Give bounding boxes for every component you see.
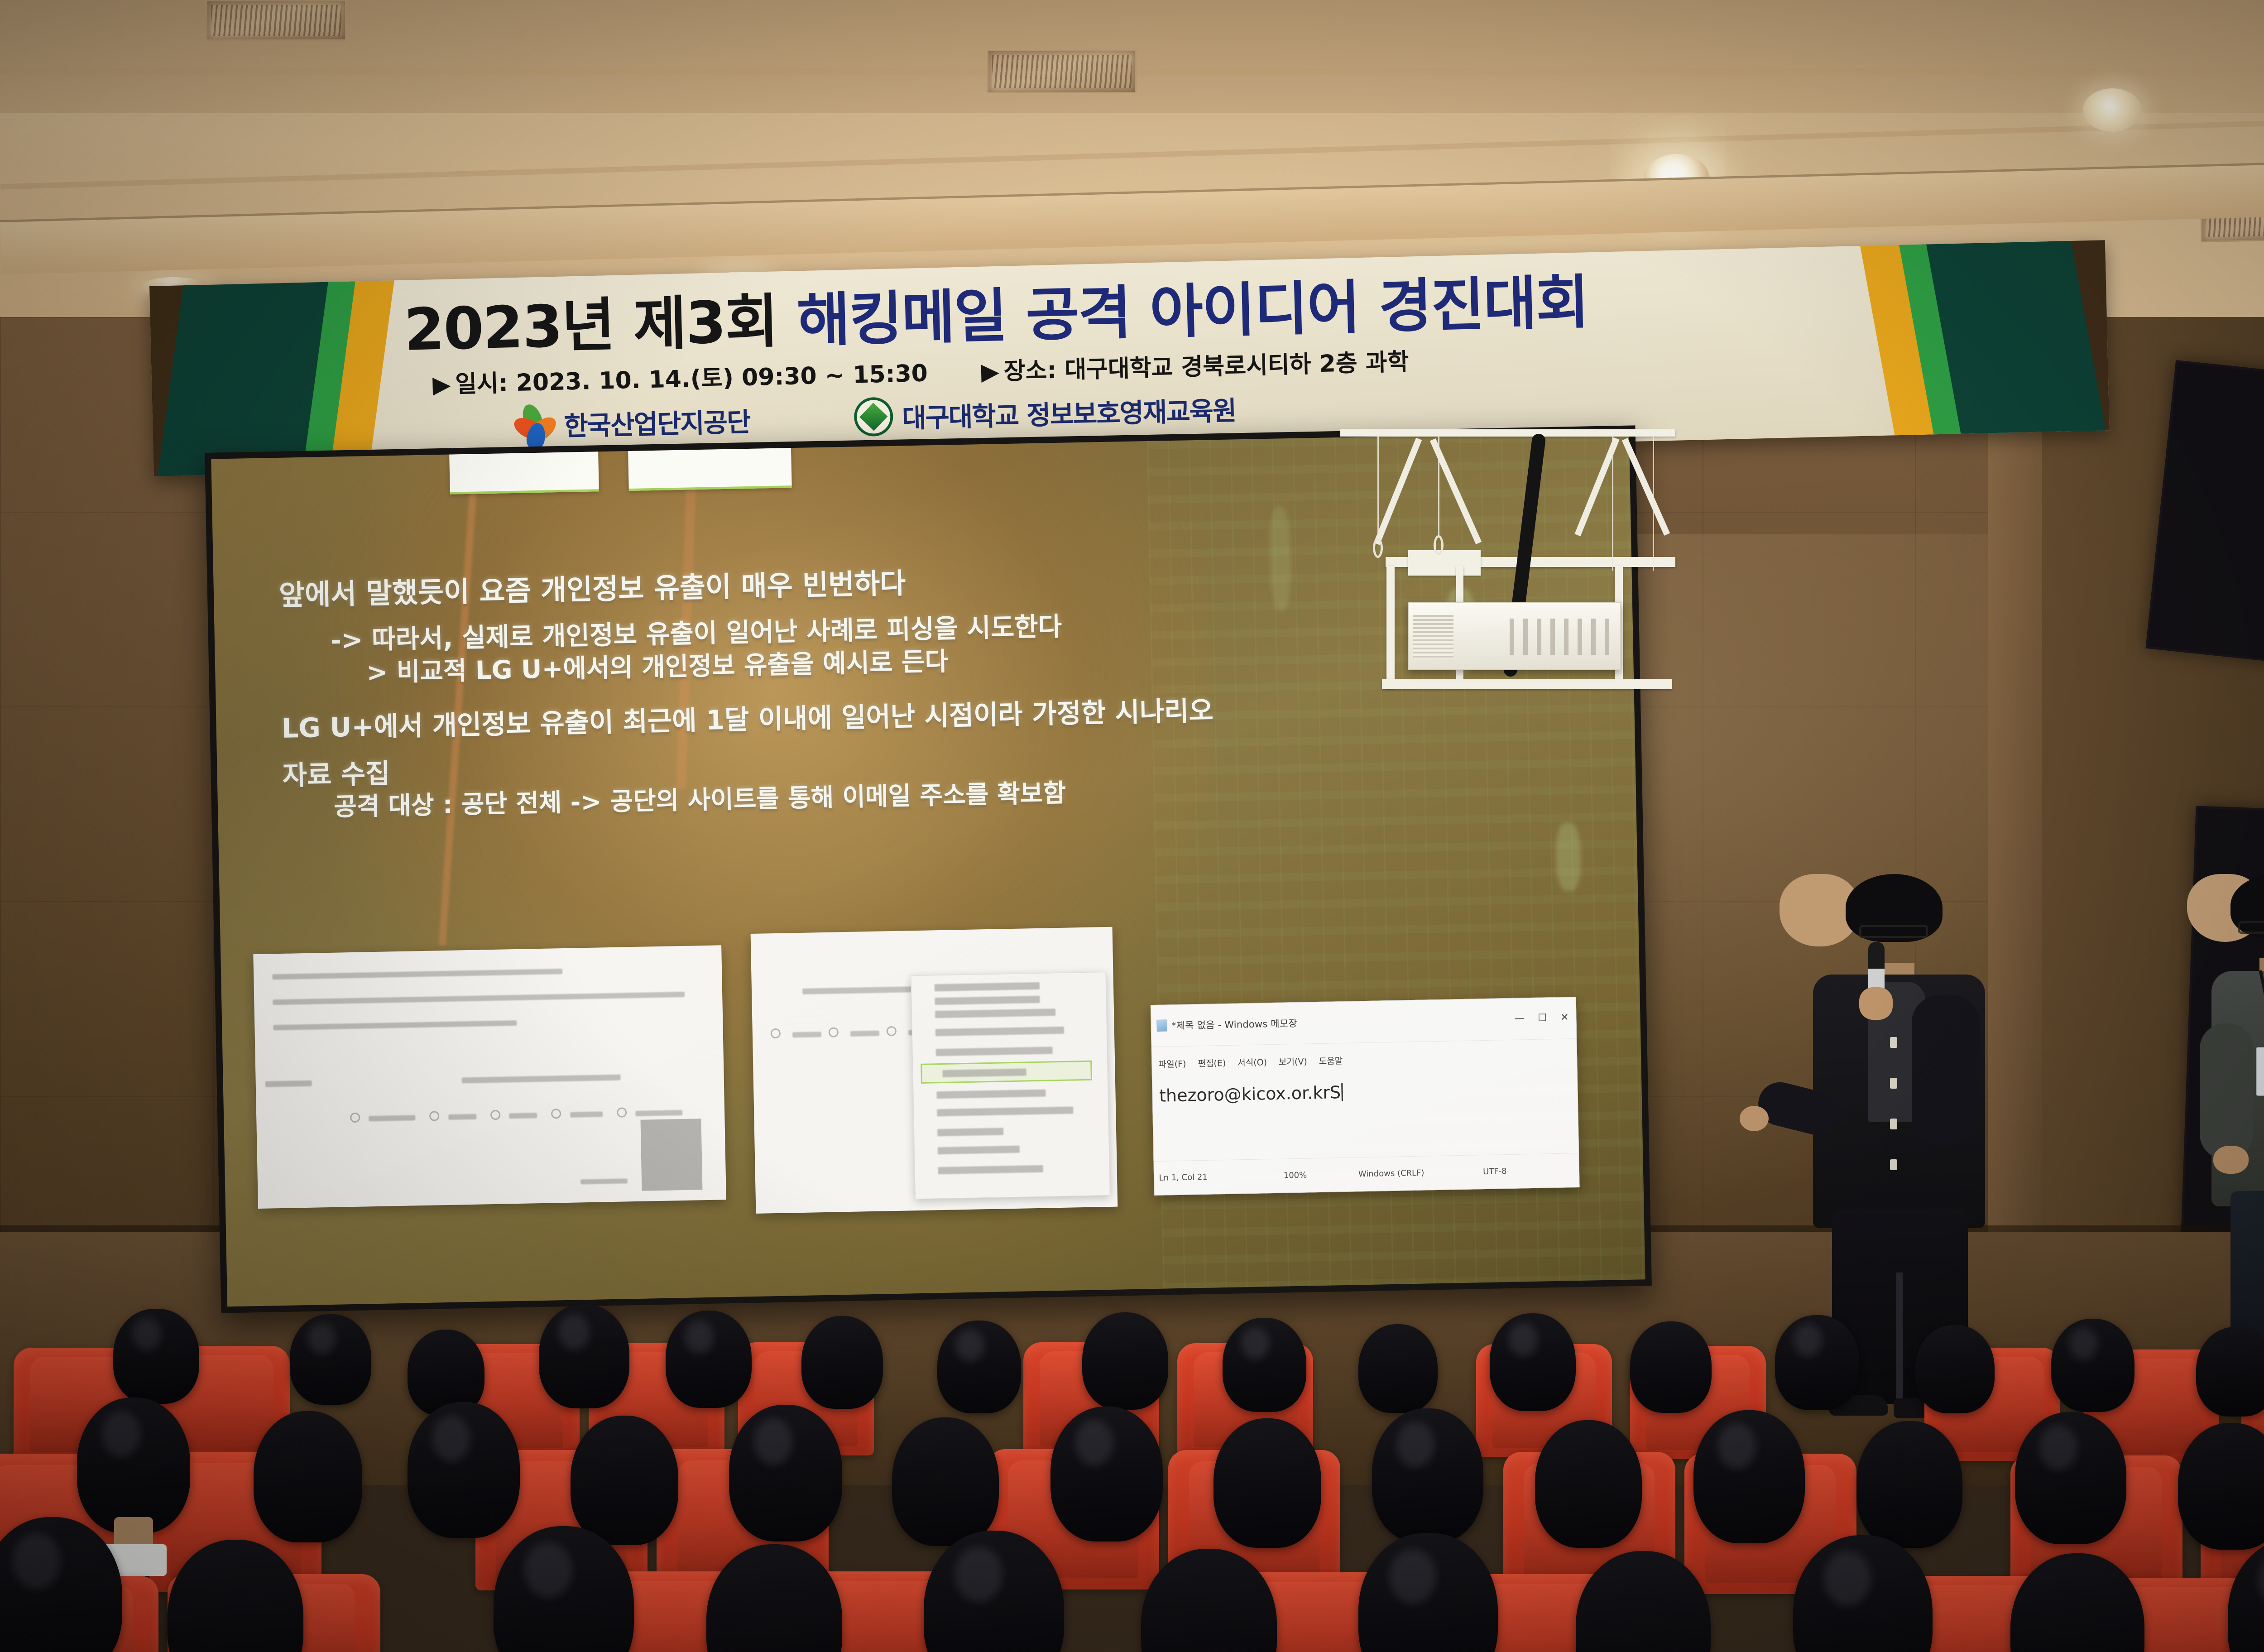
context-menu-item-4[interactable] <box>935 1027 1064 1036</box>
menu-edit[interactable]: 편집(E) <box>1198 1057 1226 1069</box>
menu-view[interactable]: 보기(V) <box>1279 1055 1307 1068</box>
kicox-logo-icon <box>514 404 555 445</box>
rig-hook-left <box>1373 538 1383 558</box>
rig-frame-left-post <box>1386 566 1395 688</box>
sponsor-kicox: 한국산업단지공단 <box>514 400 750 445</box>
rig-top-rail <box>1340 429 1675 437</box>
audience-section <box>0 1304 2264 1652</box>
audience-head-n7 <box>1358 1533 1498 1652</box>
status-cursor-position: Ln 1, Col 21 <box>1159 1171 1284 1183</box>
rig-base-shelf <box>1382 679 1672 689</box>
rig-wire-4 <box>1653 435 1654 571</box>
form-radio-label-4 <box>570 1112 603 1118</box>
presenter-jacket-button-4 <box>1890 1159 1897 1170</box>
menu-help[interactable]: 도움말 <box>1319 1054 1343 1067</box>
auditorium-scene: 2023년 제3회 해킹메일 공격 아이디어 경진대회 ▶일시: 2023. 1… <box>0 0 2264 1652</box>
rig-scissor-left-b <box>1430 438 1482 544</box>
audience-head-f5 <box>666 1311 752 1408</box>
context-menu-item-7[interactable] <box>937 1089 1046 1099</box>
audience-head-m12 <box>1856 1421 1962 1548</box>
presenter-jacket-button-3 <box>1890 1119 1897 1129</box>
form-radio-5[interactable] <box>617 1107 627 1117</box>
projector-unit <box>1408 602 1621 670</box>
banner-date-label: 일시: <box>455 370 508 398</box>
audience-head-m7 <box>1050 1407 1163 1542</box>
menu-file[interactable]: 파일(F) <box>1158 1057 1186 1070</box>
audience-head-m1 <box>77 1397 190 1533</box>
slide-title-chip-right <box>628 444 792 491</box>
audience-head-m2 <box>254 1411 362 1542</box>
context-menu-item-10[interactable] <box>938 1145 1020 1154</box>
form-contact-line <box>461 1075 621 1084</box>
banner-title-year: 2023년 제3회 <box>403 287 798 364</box>
status-line-ending: Windows (CRLF) <box>1358 1167 1483 1179</box>
rig-wire-1 <box>1377 435 1379 540</box>
banner-place-value: 대구대학교 경북로시티하 2층 과학 <box>1065 349 1409 384</box>
rig-wire-2 <box>1438 435 1439 537</box>
form-section-label <box>265 1081 312 1087</box>
notepad-title-text: *제목 없음 - Windows 메모장 <box>1171 1012 1510 1032</box>
audience-head-m5 <box>729 1405 842 1542</box>
sponsor-daegu: 대구대학교 정보보호영재교육원 <box>854 389 1236 437</box>
context-menu-highlight-copy-email[interactable] <box>921 1061 1092 1084</box>
slide-title-chip-left <box>449 447 599 495</box>
audience-head-f2 <box>290 1314 371 1405</box>
assistant-left-arm <box>2200 1023 2253 1159</box>
notepad-content: thezoro@kicox.or.krS <box>1159 1082 1341 1106</box>
ceiling-vent-mid <box>987 50 1137 93</box>
form-radio-label-2 <box>448 1114 476 1120</box>
form-radio-label-1 <box>369 1115 416 1122</box>
form-radio-4[interactable] <box>551 1109 561 1119</box>
browser-context-menu[interactable] <box>911 972 1110 1199</box>
audience-head-f11 <box>1490 1313 1576 1411</box>
projector-port-panel <box>1510 619 1614 655</box>
matrix-blob-2 <box>1555 823 1581 891</box>
menu-format[interactable]: 서식(O) <box>1238 1056 1267 1069</box>
audience-head-m11 <box>1693 1410 1805 1543</box>
form-text-line-1 <box>272 969 562 980</box>
form-submit-button[interactable] <box>640 1119 702 1191</box>
context-menu-item-8[interactable] <box>937 1106 1073 1116</box>
banner-place-label: 장소: <box>1003 357 1057 385</box>
rig-hook-mid <box>1434 535 1444 555</box>
audience-head-m4 <box>571 1416 678 1545</box>
form-radio-label-3 <box>509 1113 537 1119</box>
context-menu-item-11[interactable] <box>938 1165 1043 1174</box>
audience-head-m9 <box>1372 1408 1483 1542</box>
context-menu-item-copy-email[interactable] <box>942 1069 1026 1078</box>
notepad-text-area[interactable]: thezoro@kicox.or.krS <box>1152 1073 1578 1161</box>
audience-head-f14 <box>1915 1325 1995 1413</box>
audience-head-f15 <box>2051 1319 2134 1412</box>
close-icon[interactable]: ✕ <box>1560 1013 1569 1023</box>
rig-scissor-right-b <box>1622 438 1670 536</box>
assistant-glasses-icon <box>2238 921 2264 934</box>
rig-wire-3 <box>1612 435 1613 571</box>
status-encoding: UTF-8 <box>1483 1166 1566 1177</box>
audience-head-m8 <box>1214 1418 1321 1548</box>
form-byte-counter <box>580 1179 628 1185</box>
audience-head-m6 <box>892 1417 999 1546</box>
notepad-window-buttons: — ☐ ✕ <box>1514 1013 1572 1024</box>
audience-head-m10 <box>1535 1420 1642 1548</box>
audience-head-f7 <box>937 1321 1021 1413</box>
audience-head-f9 <box>1223 1318 1306 1412</box>
maximize-icon[interactable]: ☐ <box>1538 1013 1547 1023</box>
page-radio-2[interactable] <box>829 1027 839 1037</box>
presenter-jacket-button-2 <box>1890 1078 1897 1089</box>
context-menu-item-3[interactable] <box>935 1009 1055 1018</box>
audience-head-f16 <box>2196 1327 2264 1417</box>
form-text-line-3 <box>273 1020 517 1030</box>
assistant-left-hand <box>2213 1146 2249 1174</box>
context-menu-item-9[interactable] <box>937 1128 1003 1137</box>
presenter-glasses-icon <box>1859 925 1928 938</box>
slide-screenshot-contextmenu <box>751 927 1118 1213</box>
rig-scissor-left-a <box>1374 437 1422 545</box>
audience-head-f1 <box>113 1309 199 1404</box>
ceiling-projector-rig <box>1340 421 1675 711</box>
audience-head-m3 <box>408 1402 520 1538</box>
rig-carriage-box <box>1408 550 1481 576</box>
slide-screenshot-webform <box>253 945 726 1208</box>
ceiling-vent-left <box>206 0 346 41</box>
page-radio-label-2 <box>850 1031 879 1037</box>
audience-head-f6 <box>801 1316 883 1409</box>
audience-head-f12 <box>1630 1321 1712 1413</box>
presenter-jacket-button-1 <box>1890 1037 1897 1048</box>
page-radio-label-1 <box>792 1032 821 1037</box>
context-menu-item-2[interactable] <box>935 996 1040 1005</box>
audience-head-f4 <box>539 1304 629 1408</box>
audience-head-m13 <box>2015 1412 2126 1544</box>
sponsor2-label: 대구대학교 정보보호영재교육원 <box>902 389 1236 435</box>
notepad-window[interactable]: *제목 없음 - Windows 메모장 — ☐ ✕ 파일(F) 편집(E) 서… <box>1151 997 1580 1196</box>
notepad-titlebar[interactable]: *제목 없음 - Windows 메모장 — ☐ ✕ <box>1151 997 1576 1047</box>
audience-head-f13 <box>1775 1315 1859 1410</box>
presenter-left-hand <box>1740 1106 1769 1131</box>
text-caret <box>1342 1083 1343 1101</box>
form-radio-2[interactable] <box>429 1111 439 1121</box>
page-radio-3[interactable] <box>886 1026 896 1036</box>
banner-place-marker-icon: ▶ <box>981 358 999 386</box>
banner-date-marker-icon: ▶ <box>432 371 451 399</box>
presenter-right-hand <box>1859 987 1893 1020</box>
ceiling-downlight-2 <box>2083 88 2142 132</box>
audience-head-f10 <box>1358 1324 1438 1413</box>
form-radio-label-5 <box>635 1110 682 1116</box>
daegu-university-logo-icon <box>854 397 893 437</box>
audience-head-f8 <box>1082 1312 1168 1410</box>
page-radio-1[interactable] <box>771 1028 781 1038</box>
form-text-line-2 <box>273 992 685 1005</box>
form-radio-3[interactable] <box>490 1110 500 1120</box>
banner-date-value: 2023. 10. 14.(토) 09:30 ~ 15:30 <box>516 360 928 397</box>
status-zoom-level: 100% <box>1284 1170 1359 1181</box>
assistant-name-badge <box>2256 1047 2264 1096</box>
notepad-icon <box>1157 1020 1167 1032</box>
context-menu-item-5[interactable] <box>936 1047 1053 1056</box>
form-radio-1[interactable] <box>350 1113 360 1123</box>
presenter-right-arm <box>1912 995 1980 1145</box>
sponsor1-label: 한국산업단지공단 <box>563 401 750 443</box>
minimize-icon[interactable]: — <box>1514 1014 1524 1024</box>
context-menu-item-1[interactable] <box>935 982 1040 991</box>
projector-vent-grille <box>1413 615 1453 658</box>
